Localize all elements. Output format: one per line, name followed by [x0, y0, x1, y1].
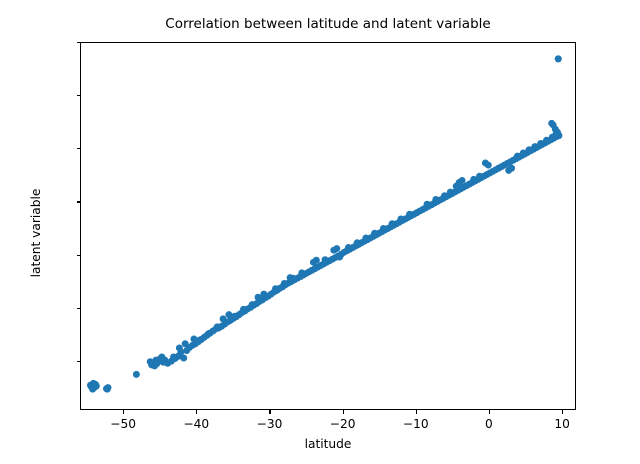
x-tick-mark: [343, 410, 344, 414]
x-tick-label: 10: [554, 417, 570, 431]
x-tick-mark: [416, 410, 417, 414]
x-tick-mark: [269, 410, 270, 414]
scatter-points-layer: [81, 43, 575, 409]
x-tick-label: −50: [110, 417, 136, 431]
x-tick-label: −40: [183, 417, 209, 431]
x-tick-mark: [562, 410, 563, 414]
x-tick-label: −30: [257, 417, 283, 431]
plot-area: [80, 42, 576, 410]
y-axis-label: latent variable: [29, 153, 43, 313]
x-axis-label: latitude: [80, 437, 576, 451]
x-tick-mark: [196, 410, 197, 414]
x-tick-mark: [123, 410, 124, 414]
x-tick-label: 0: [485, 417, 493, 431]
chart-figure: Correlation between latitude and latent …: [0, 0, 640, 464]
x-tick-mark: [489, 410, 490, 414]
x-tick-label: −20: [330, 417, 356, 431]
x-tick-label: −10: [403, 417, 429, 431]
chart-title: Correlation between latitude and latent …: [80, 16, 576, 32]
